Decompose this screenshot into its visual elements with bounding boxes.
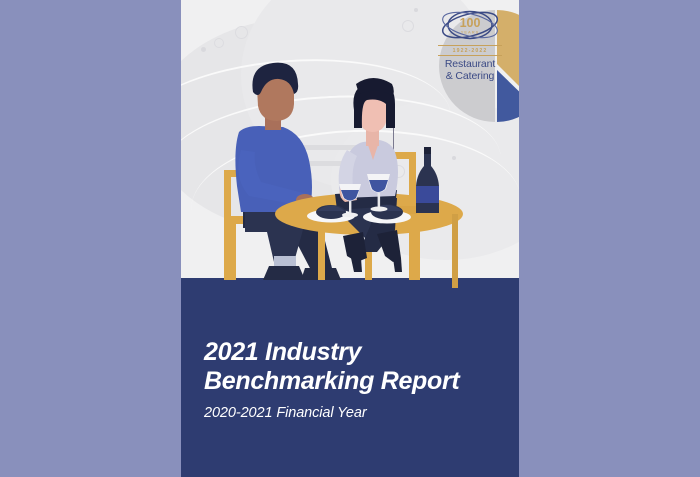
page-subtitle: 2020-2021 Financial Year [204, 404, 504, 422]
page-title: 2021 Industry Benchmarking Report [204, 338, 504, 396]
screenshot-viewport: 100 YEARS 1922-2022 Restaurant & Caterin… [0, 0, 700, 477]
logo-org-name: Restaurant & Catering [429, 59, 511, 82]
wine-bottle [416, 147, 439, 213]
report-cover-page: 100 YEARS 1922-2022 Restaurant & Caterin… [181, 0, 519, 477]
logo-years-text: YEARS [461, 30, 480, 35]
centenary-swoosh-icon: 100 YEARS [439, 6, 501, 44]
logo-year-range: 1922-2022 [438, 45, 502, 56]
logo-100-text: 100 [460, 16, 481, 30]
man-seated-left [235, 63, 341, 280]
title-block: 2021 Industry Benchmarking Report 2020-2… [204, 338, 504, 422]
restaurant-catering-logo: 100 YEARS 1922-2022 Restaurant & Caterin… [429, 6, 511, 82]
